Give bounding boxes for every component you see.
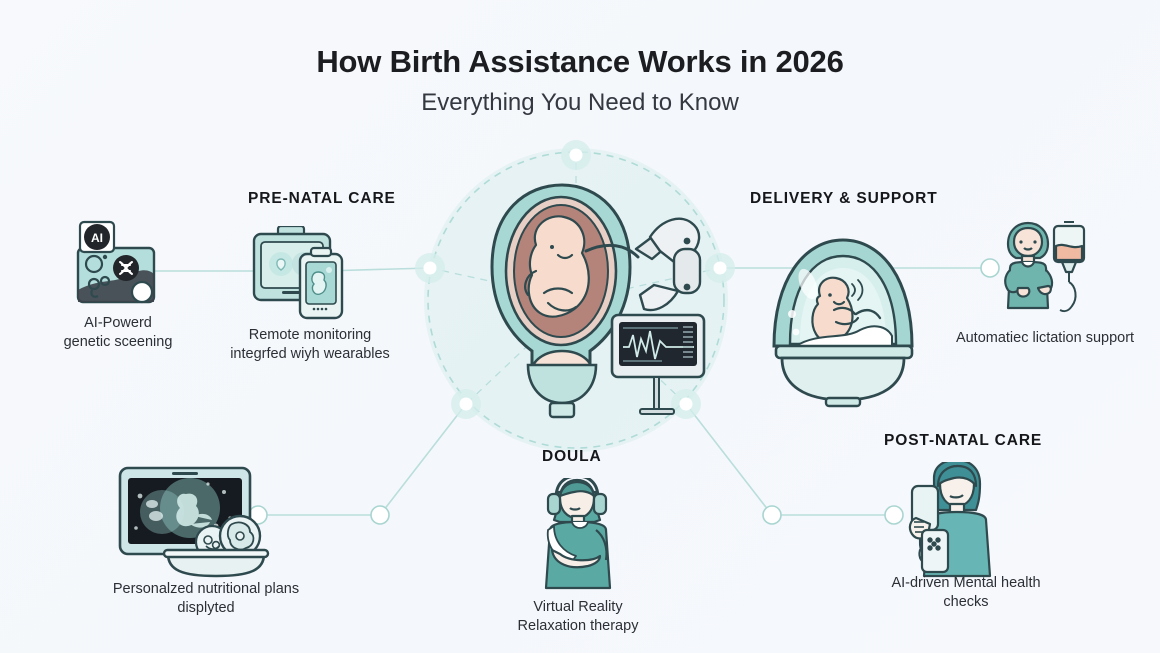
- page-subtitle: Everything You Need to Know: [0, 89, 1160, 117]
- section-header-post-natal: POST-NATAL CARE: [884, 432, 1042, 450]
- caption-vr-doula: Virtual Reality Relaxation therapy: [488, 598, 668, 635]
- caption-nutrition-plans: Personalzed nutritional plans displyted: [94, 580, 318, 617]
- ecg-monitor: [612, 315, 704, 414]
- ai-genetic-screening-icon: AI: [72, 218, 164, 316]
- nurse-iv-lactation-icon: [992, 220, 1092, 326]
- infographic-canvas: How Birth Assistance Works in 2026 Every…: [0, 0, 1160, 653]
- parent-phone-mentalhealth-icon: [898, 462, 1008, 578]
- caption-mental-health: AI-driven Mental health checks: [868, 574, 1064, 611]
- tablet-phone-monitoring-icon: [248, 226, 360, 326]
- section-header-doula: DOULA: [542, 448, 602, 466]
- caption-lactation-support: Automatiec lictation support: [930, 329, 1160, 348]
- svg-text:AI: AI: [91, 231, 103, 245]
- artificial-womb-robotic-arm-icon: [440, 175, 710, 425]
- caption-remote-monitoring: Remote monitoring integrfed wiyh wearabl…: [212, 326, 408, 363]
- incubator-pod-infant-icon: [748, 218, 938, 408]
- section-header-pre-natal: PRE-NATAL CARE: [248, 190, 396, 208]
- section-header-delivery: DELIVERY & SUPPORT: [750, 190, 938, 208]
- laptop-nutrition-bowl-icon: [112, 466, 282, 578]
- caption-genetic-screening: AI-Powerd genetic sceening: [38, 314, 198, 351]
- page-title: How Birth Assistance Works in 2026: [0, 44, 1160, 80]
- doula-headset-icon: [530, 478, 626, 590]
